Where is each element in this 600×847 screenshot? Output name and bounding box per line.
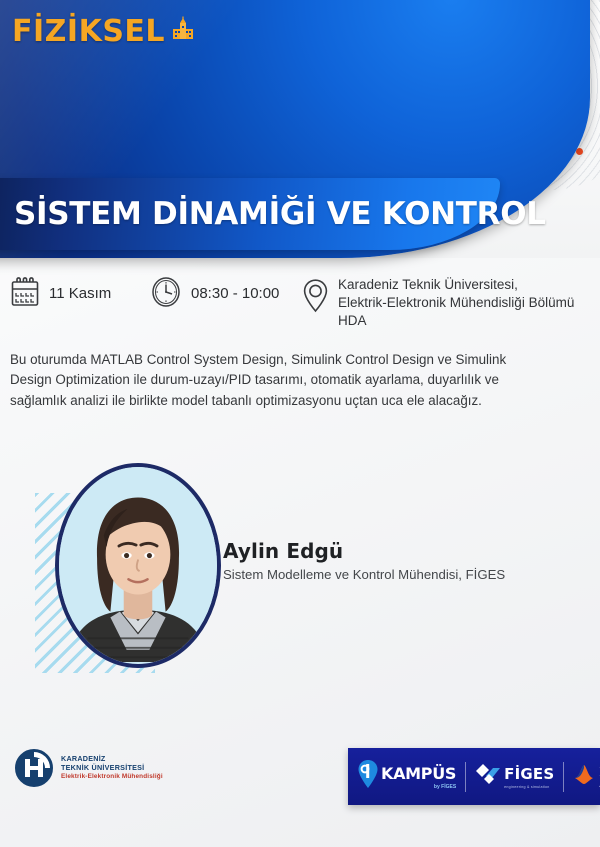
sponsor-kampus-sub: by FİGES xyxy=(381,784,456,790)
event-poster: FİZİKSEL SİSTEM DİNAMİĞİ VE xyxy=(0,0,600,847)
kampus-pin-icon xyxy=(357,759,379,794)
sponsor-figes-name: FİGES xyxy=(504,765,554,783)
sponsor-figes-sub: engineering & simulation xyxy=(504,785,554,789)
university-logo: KARADENİZ TEKNİK ÜNİVERSİTESİ Elektrik-E… xyxy=(14,748,163,788)
page-title: SİSTEM DİNAMİĞİ VE KONTROL xyxy=(14,196,546,232)
event-time: 08:30 - 10:00 xyxy=(150,276,302,313)
speaker-name: Aylin Edgü xyxy=(223,539,505,563)
location-pin-icon xyxy=(302,278,329,319)
sponsor-kampus-name: KAMPÜS xyxy=(381,764,456,783)
figes-chevron-icon xyxy=(475,763,501,790)
sponsor-bar: KAMPÜS by FİGES FİGES engineering & simu… xyxy=(348,748,600,805)
event-location: Karadeniz Teknik Üniversitesi, Elektrik-… xyxy=(302,276,592,330)
calendar-icon xyxy=(10,276,40,313)
brand-logo: FİZİKSEL xyxy=(12,14,196,49)
mathworks-membrane-icon xyxy=(573,762,595,791)
university-building-icon xyxy=(170,16,196,47)
event-description: Bu oturumda MATLAB Control System Design… xyxy=(10,350,550,411)
location-line-2: Elektrik-Elektronik Mühendisliği Bölümü xyxy=(338,295,574,310)
speaker-title: Sistem Modelleme ve Kontrol Mühendisi, F… xyxy=(223,567,505,582)
event-info-row: 11 Kasım 08:30 - 10:00 xyxy=(10,276,592,330)
ktu-line-2: TEKNİK ÜNİVERSİTESİ xyxy=(61,764,163,772)
location-line-3: HDA xyxy=(338,313,367,328)
speaker-portrait xyxy=(59,467,217,662)
event-date: 11 Kasım xyxy=(10,276,150,313)
ktu-logo-text: KARADENİZ TEKNİK ÜNİVERSİTESİ Elektrik-E… xyxy=(61,755,163,781)
speaker-avatar xyxy=(55,463,221,668)
brand-name: FİZİKSEL xyxy=(12,14,165,49)
speaker-section: Aylin Edgü Sistem Modelleme ve Kontrol M… xyxy=(35,455,565,685)
event-time-value: 08:30 - 10:00 xyxy=(191,284,279,304)
title-banner: SİSTEM DİNAMİĞİ VE KONTROL xyxy=(0,178,500,250)
ktu-emblem-icon xyxy=(14,748,54,788)
speaker-details: Aylin Edgü Sistem Modelleme ve Kontrol M… xyxy=(223,539,505,582)
event-date-value: 11 Kasım xyxy=(49,284,111,304)
sponsor-figes: FİGES engineering & simulation xyxy=(466,748,563,805)
sponsor-kampus: KAMPÜS by FİGES xyxy=(348,748,465,805)
ktu-line-3: Elektrik-Elektronik Mühendisliği xyxy=(61,773,163,781)
clock-icon xyxy=(150,276,182,313)
event-location-text: Karadeniz Teknik Üniversitesi, Elektrik-… xyxy=(338,276,574,330)
sponsor-mathworks: MathWorks Authorized xyxy=(564,748,600,805)
location-line-1: Karadeniz Teknik Üniversitesi, xyxy=(338,277,518,292)
